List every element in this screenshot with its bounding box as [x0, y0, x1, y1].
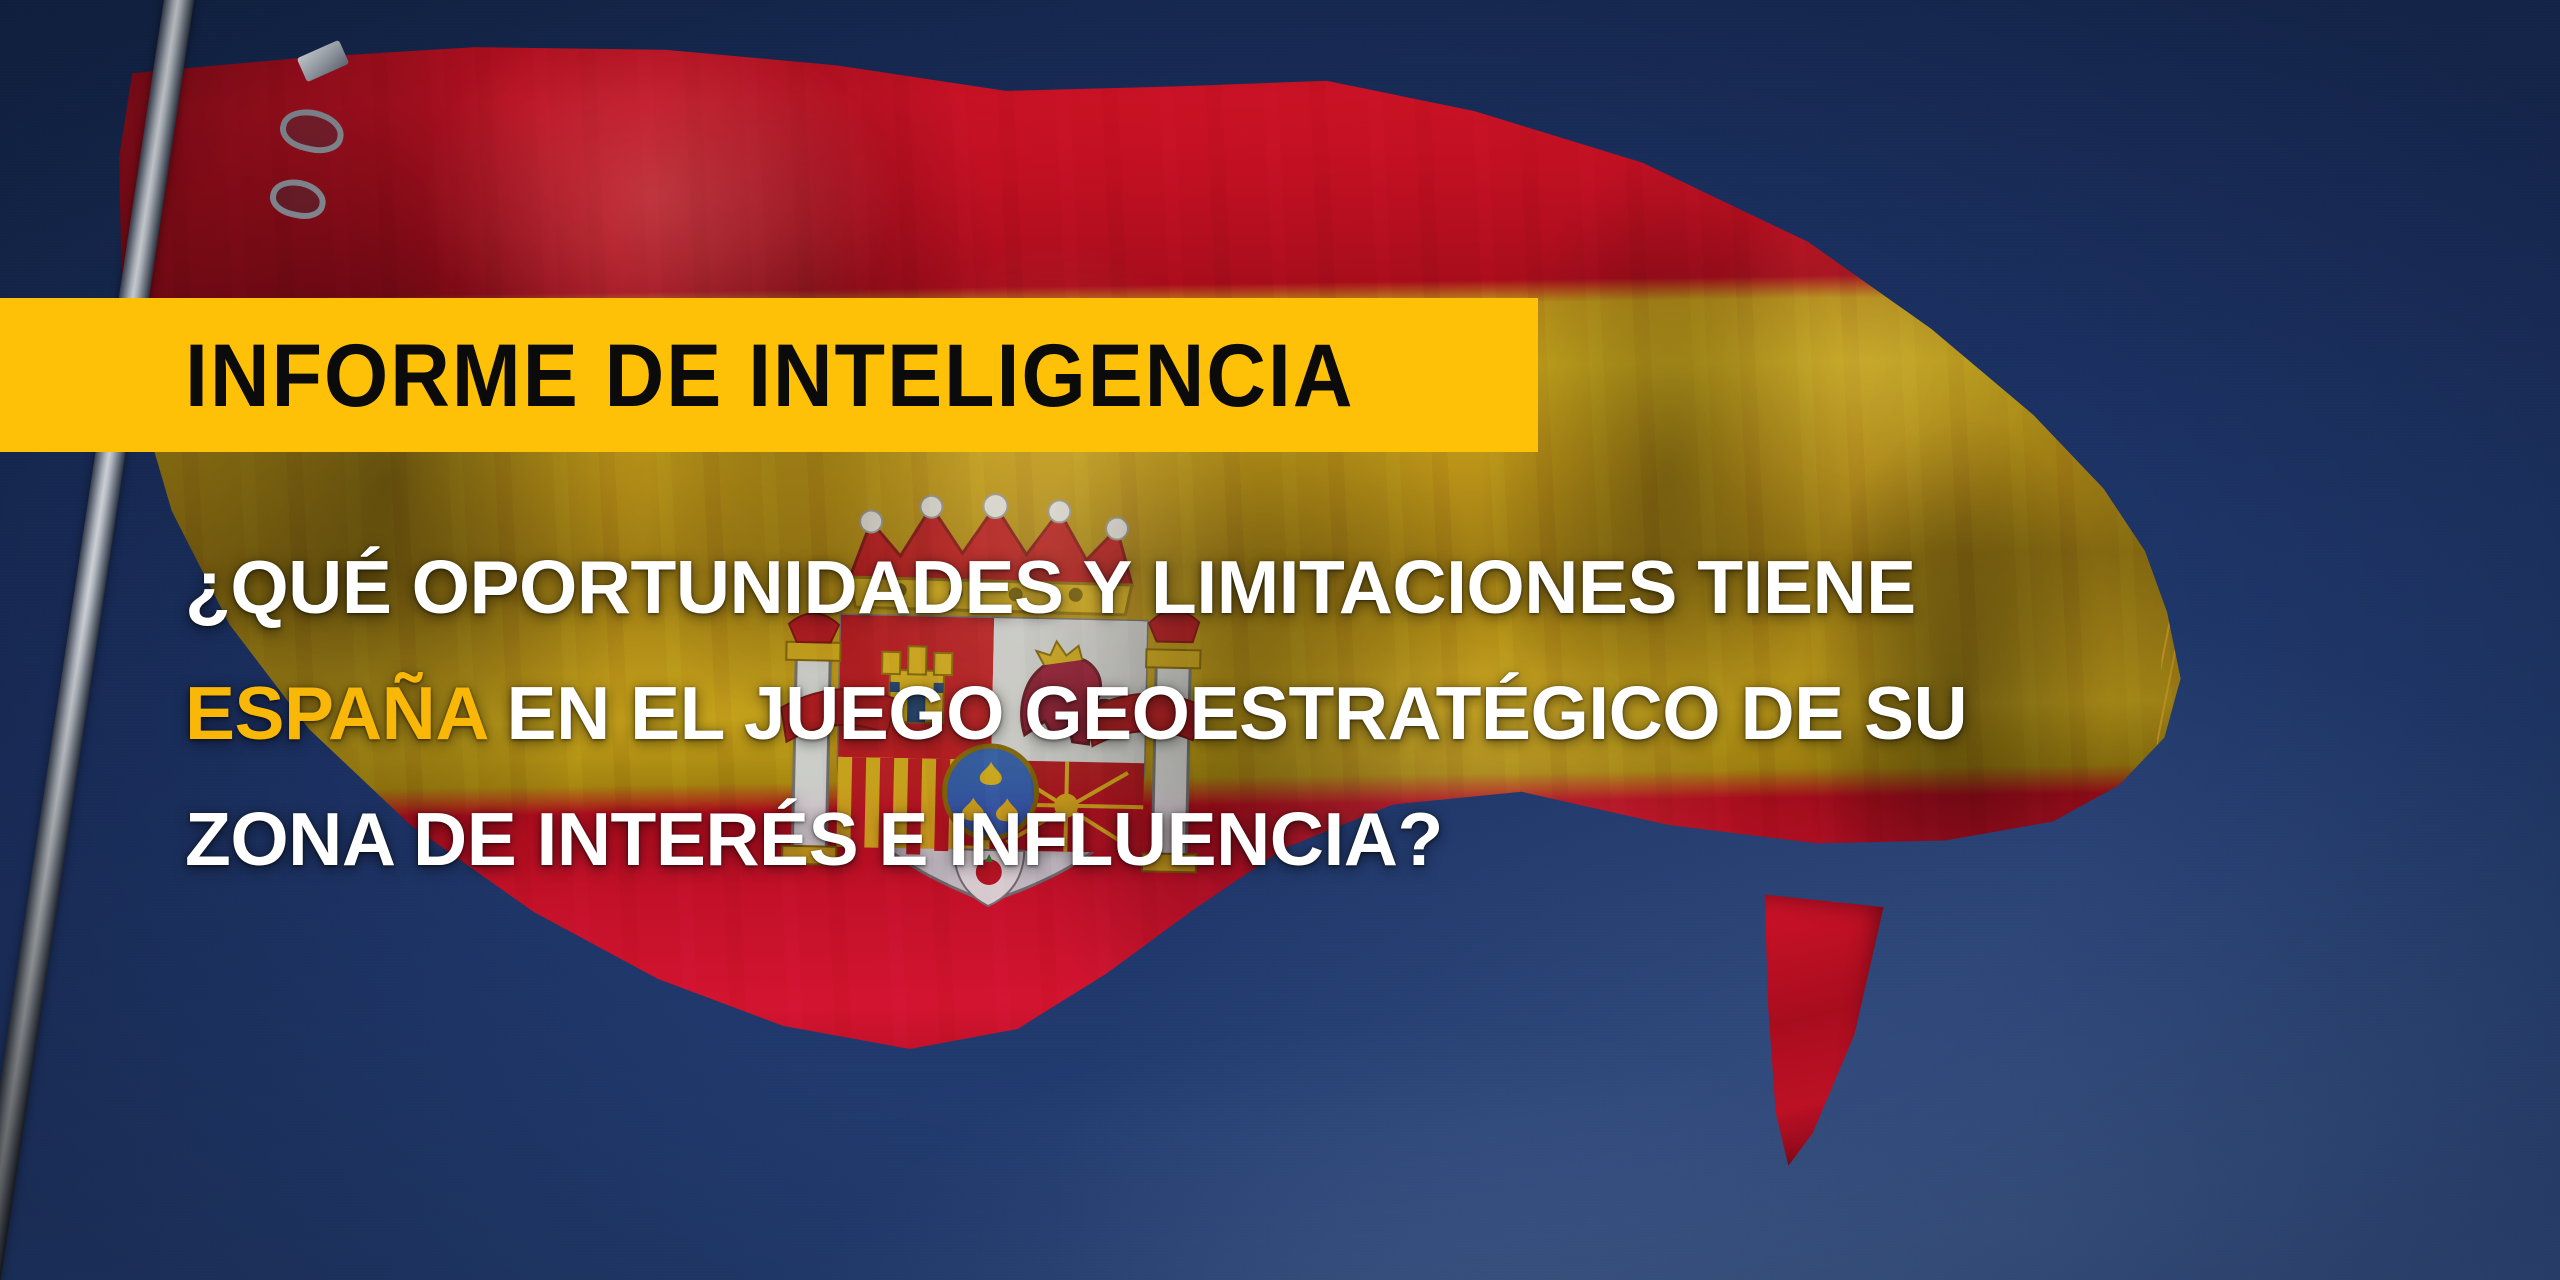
report-label-banner: INFORME DE INTELIGENCIA — [0, 298, 1538, 452]
report-label-text: INFORME DE INTELIGENCIA — [185, 331, 1354, 420]
headline-line-3: ZONA DE INTERÉS E INFLUENCIA? — [185, 776, 2245, 902]
flag-hanging-tail — [1731, 894, 1889, 1176]
headline-line-2-rest: EN EL JUEGO GEOESTRATÉGICO DE SU — [486, 671, 1967, 755]
headline-country-highlight: ESPAÑA — [185, 671, 486, 755]
poster-canvas: INFORME DE INTELIGENCIA ¿QUÉ OPORTUNIDAD… — [0, 0, 2560, 1280]
page-title: ¿QUÉ OPORTUNIDADES Y LIMITACIONES TIENE … — [185, 524, 2245, 902]
headline-line-2: ESPAÑA EN EL JUEGO GEOESTRATÉGICO DE SU — [185, 650, 2245, 776]
headline-line-1: ¿QUÉ OPORTUNIDADES Y LIMITACIONES TIENE — [185, 524, 2245, 650]
